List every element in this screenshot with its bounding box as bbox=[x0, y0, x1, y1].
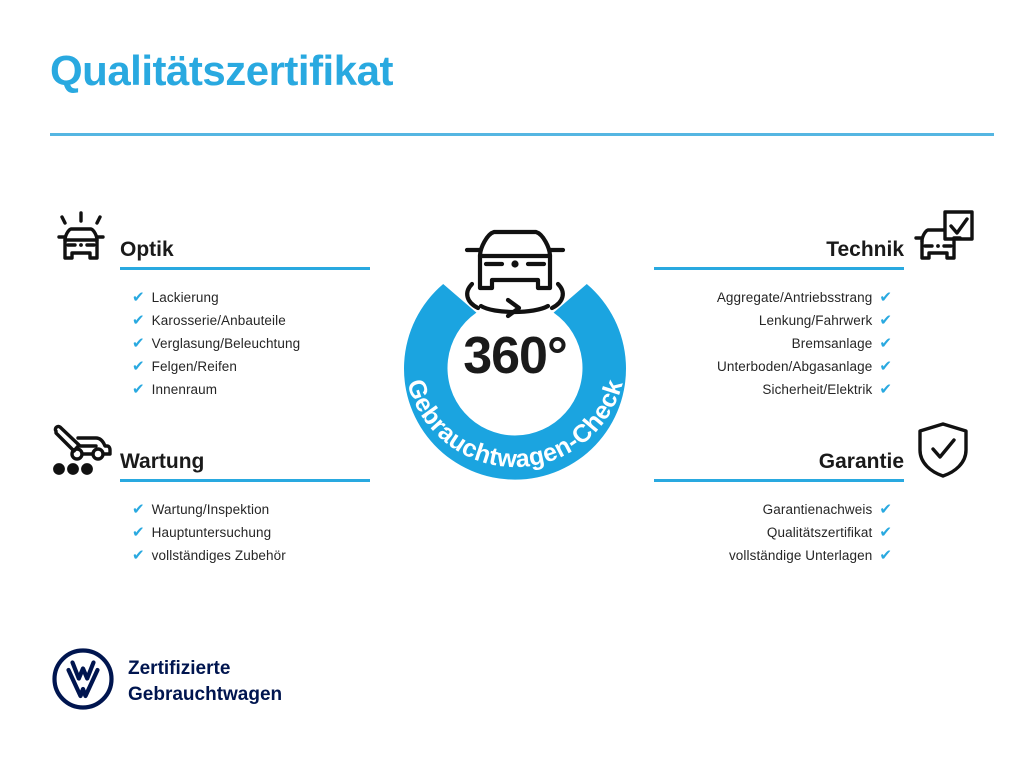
list-item: ✔Lackierung bbox=[132, 286, 388, 309]
list-item-label: Sicherheit/Elektrik bbox=[762, 382, 872, 397]
check-icon: ✔ bbox=[879, 544, 892, 567]
list-item: Bremsanlage✔ bbox=[636, 332, 892, 355]
list-item: Garantienachweis✔ bbox=[636, 498, 892, 521]
check-icon: ✔ bbox=[132, 286, 145, 309]
checklist-optik: ✔Lackierung ✔Karosserie/Anbauteile ✔Verg… bbox=[42, 272, 388, 401]
list-item-label: Lenkung/Fahrwerk bbox=[759, 313, 872, 328]
list-item-label: vollständige Unterlagen bbox=[729, 548, 872, 563]
section-wartung: Wartung ✔Wartung/Inspektion ✔Hauptunters… bbox=[42, 412, 388, 567]
list-item-label: Lackierung bbox=[152, 290, 219, 305]
section-optik: Optik ✔Lackierung ✔Karosserie/Anbauteile… bbox=[42, 200, 388, 401]
check-icon: ✔ bbox=[132, 378, 145, 401]
list-item: Qualitätszertifikat✔ bbox=[636, 521, 892, 544]
check-icon: ✔ bbox=[132, 332, 145, 355]
checklist-technik: Aggregate/Antriebsstrang✔ Lenkung/Fahrwe… bbox=[636, 272, 982, 401]
section-rule-optik bbox=[120, 267, 370, 270]
checklist-wartung: ✔Wartung/Inspektion ✔Hauptuntersuchung ✔… bbox=[42, 484, 388, 567]
list-item: Lenkung/Fahrwerk✔ bbox=[636, 309, 892, 332]
vw-logo-line2: Gebrauchtwagen bbox=[128, 682, 282, 707]
check-icon: ✔ bbox=[879, 521, 892, 544]
page-title: Qualitätszertifikat bbox=[50, 48, 393, 94]
section-rule-garantie bbox=[654, 479, 904, 482]
list-item-label: Wartung/Inspektion bbox=[152, 502, 270, 517]
list-item: Unterboden/Abgasanlage✔ bbox=[636, 355, 892, 378]
list-item: ✔Karosserie/Anbauteile bbox=[132, 309, 388, 332]
list-item-label: Unterboden/Abgasanlage bbox=[717, 359, 872, 374]
list-item: ✔Wartung/Inspektion bbox=[132, 498, 388, 521]
list-item-label: Aggregate/Antriebsstrang bbox=[717, 290, 873, 305]
wrench-car-icon bbox=[42, 416, 120, 484]
list-item-label: Bremsanlage bbox=[792, 336, 873, 351]
list-item-label: Garantienachweis bbox=[763, 502, 873, 517]
vw-logo-line1: Zertifizierte bbox=[128, 656, 282, 681]
check-icon: ✔ bbox=[879, 332, 892, 355]
list-item: Sicherheit/Elektrik✔ bbox=[636, 378, 892, 401]
list-item: ✔Hauptuntersuchung bbox=[132, 521, 388, 544]
section-title-technik: Technik bbox=[636, 238, 904, 267]
check-icon: ✔ bbox=[132, 309, 145, 332]
section-technik: Technik Aggregate/Antriebsstrang✔ Lenkun… bbox=[636, 200, 982, 401]
section-rule-technik bbox=[654, 267, 904, 270]
check-icon: ✔ bbox=[879, 498, 892, 521]
list-item: ✔vollständiges Zubehör bbox=[132, 544, 388, 567]
badge-360-gebrauchtwagen-check: Gebrauchtwagen-Check 360° bbox=[382, 196, 648, 488]
check-icon: ✔ bbox=[879, 309, 892, 332]
list-item-label: Felgen/Reifen bbox=[152, 359, 237, 374]
title-divider bbox=[50, 133, 994, 136]
checklist-garantie: Garantienachweis✔ Qualitätszertifikat✔ v… bbox=[636, 484, 982, 567]
car-shine-icon bbox=[42, 204, 120, 272]
list-item-label: Karosserie/Anbauteile bbox=[152, 313, 286, 328]
list-item-label: Innenraum bbox=[152, 382, 217, 397]
list-item-label: Verglasung/Beleuchtung bbox=[152, 336, 301, 351]
vw-logo-icon bbox=[52, 648, 114, 715]
check-icon: ✔ bbox=[132, 544, 145, 567]
list-item: vollständige Unterlagen✔ bbox=[636, 544, 892, 567]
section-rule-wartung bbox=[120, 479, 370, 482]
badge-number: 360° bbox=[382, 330, 648, 382]
check-icon: ✔ bbox=[132, 521, 145, 544]
vw-logo-text: Zertifizierte Gebrauchtwagen bbox=[128, 656, 282, 706]
check-icon: ✔ bbox=[879, 378, 892, 401]
check-icon: ✔ bbox=[879, 286, 892, 309]
check-icon: ✔ bbox=[132, 498, 145, 521]
list-item: ✔Innenraum bbox=[132, 378, 388, 401]
section-title-garantie: Garantie bbox=[636, 450, 904, 479]
list-item-label: vollständiges Zubehör bbox=[152, 548, 286, 563]
list-item: ✔Verglasung/Beleuchtung bbox=[132, 332, 388, 355]
section-title-optik: Optik bbox=[120, 238, 388, 267]
section-title-wartung: Wartung bbox=[120, 450, 388, 479]
check-icon: ✔ bbox=[879, 355, 892, 378]
shield-check-icon bbox=[904, 416, 982, 484]
car-rotation-icon bbox=[467, 232, 563, 316]
section-garantie: Garantie Garantienachweis✔ Qualitätszert… bbox=[636, 412, 982, 567]
list-item-label: Qualitätszertifikat bbox=[767, 525, 872, 540]
list-item-label: Hauptuntersuchung bbox=[152, 525, 272, 540]
vw-certified-logo: Zertifizierte Gebrauchtwagen bbox=[52, 648, 282, 715]
list-item: Aggregate/Antriebsstrang✔ bbox=[636, 286, 892, 309]
list-item: ✔Felgen/Reifen bbox=[132, 355, 388, 378]
car-checkbox-icon bbox=[904, 204, 982, 272]
check-icon: ✔ bbox=[132, 355, 145, 378]
